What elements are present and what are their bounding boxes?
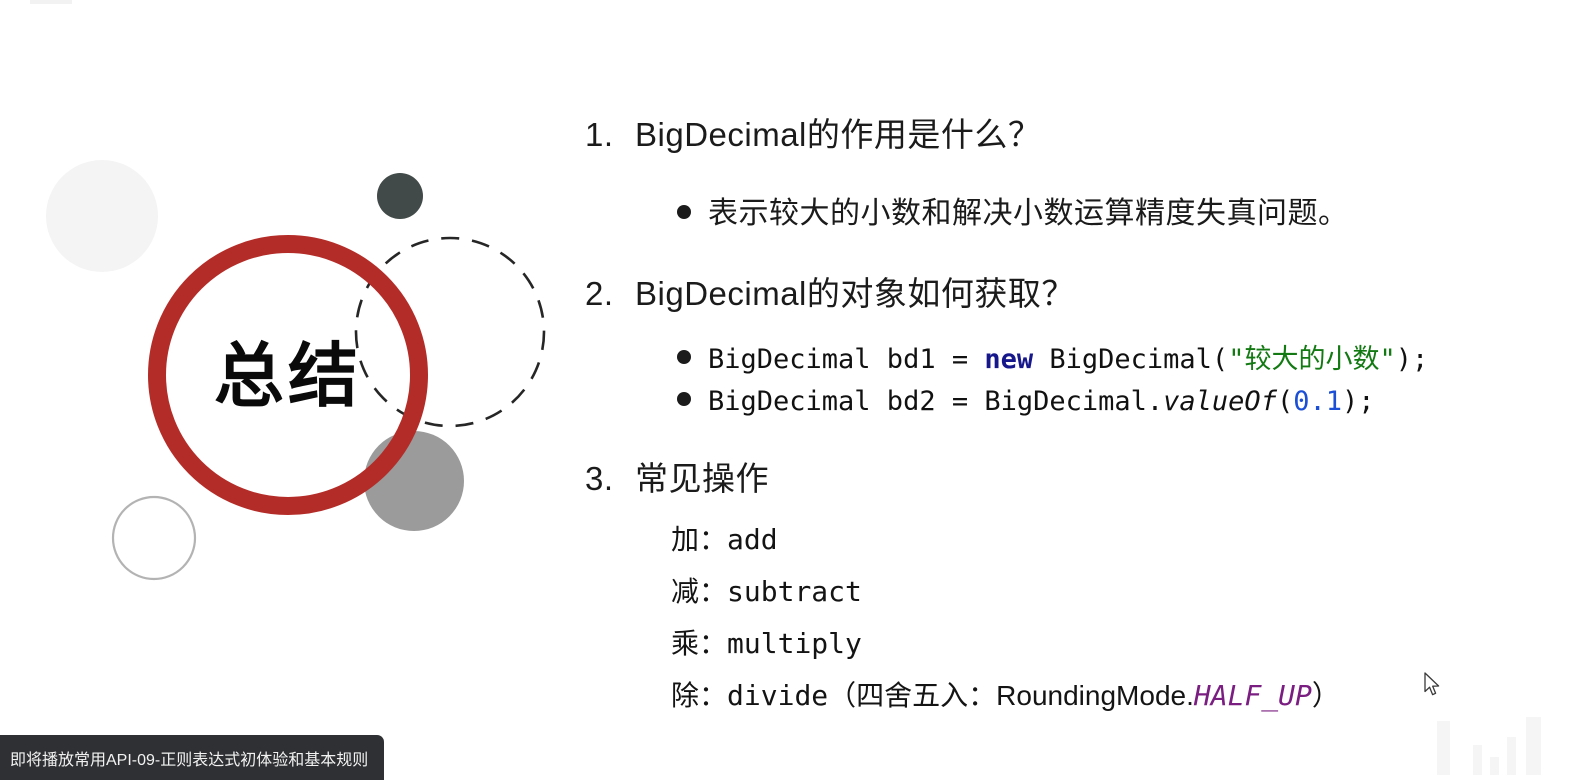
code-1-part-1: BigDecimal bd1 =: [708, 344, 984, 375]
code-2-part-2: (: [1277, 386, 1293, 417]
decorative-circles-graphic: 总结: [0, 0, 600, 640]
code-2-part-1: BigDecimal bd2 = BigDecimal.: [708, 386, 1163, 417]
question-3: 3. 常见操作: [585, 452, 1545, 500]
question-2: 2. BigDecimal的对象如何获取？: [585, 267, 1545, 315]
question-2-number: 2.: [585, 275, 635, 313]
code-2-part-3: );: [1342, 386, 1375, 417]
code-1-part-2: BigDecimal(: [1033, 344, 1228, 375]
slide-body: 1. BigDecimal的作用是什么？ 表示较大的小数和解决小数运算精度失真问…: [585, 108, 1545, 714]
operation-divide-method: divide: [727, 679, 828, 712]
code-line-2: BigDecimal bd2 = BigDecimal.valueOf(0.1)…: [708, 386, 1375, 417]
bullet-dot-icon: [677, 205, 691, 219]
operations-list: 加：add 减：subtract 乘：multiply 除：divide（四舍五…: [671, 518, 1545, 714]
operation-divide-tail: ）: [1312, 680, 1340, 711]
operation-add-method: add: [727, 523, 778, 556]
playback-toast: 即将播放常用API-09-正则表达式初体验和基本规则: [0, 735, 384, 780]
operation-add-label: 加：: [671, 524, 727, 555]
question-2-title: BigDecimal的对象如何获取？: [635, 267, 1075, 315]
code-line-1: BigDecimal bd1 = new BigDecimal("较大的小数")…: [708, 337, 1428, 376]
code-2-method: valueOf: [1163, 386, 1277, 417]
thin-outline-circle: [113, 497, 195, 579]
operation-subtract: 减：subtract: [671, 570, 1545, 610]
question-1-title: BigDecimal的作用是什么？: [635, 108, 1041, 156]
mouse-cursor-icon: [1424, 672, 1442, 698]
code-1-string: "较大的小数": [1228, 344, 1396, 375]
question-3-number: 3.: [585, 460, 635, 498]
operation-multiply-label: 乘：: [671, 628, 727, 659]
question-1-number: 1.: [585, 116, 635, 154]
operation-multiply-method: multiply: [727, 627, 862, 660]
answer-1-text: 表示较大的小数和解决小数运算精度失真问题。: [708, 188, 1349, 232]
code-line-2-row: BigDecimal bd2 = BigDecimal.valueOf(0.1)…: [677, 386, 1545, 417]
code-1-keyword: new: [984, 344, 1033, 375]
bullet-dot-icon: [677, 392, 691, 406]
operation-divide: 除：divide（四舍五入：RoundingMode.HALF_UP）: [671, 674, 1545, 714]
light-gray-circle: [46, 160, 158, 272]
code-2-number: 0.1: [1293, 386, 1342, 417]
question-1: 1. BigDecimal的作用是什么？: [585, 108, 1545, 156]
question-3-title: 常见操作: [635, 452, 769, 500]
operation-subtract-label: 减：: [671, 576, 727, 607]
answer-1-row: 表示较大的小数和解决小数运算精度失真问题。: [677, 188, 1545, 232]
operation-divide-constant: HALF_UP: [1194, 679, 1312, 712]
operation-subtract-method: subtract: [727, 575, 862, 608]
code-1-part-3: );: [1396, 344, 1429, 375]
presentation-slide: 总结 1. BigDecimal的作用是什么？ 表示较大的小数和解决小数运算精度…: [0, 0, 1581, 783]
operation-divide-label: 除：: [671, 680, 727, 711]
playback-toast-text: 即将播放常用API-09-正则表达式初体验和基本规则: [10, 746, 368, 770]
operation-add: 加：add: [671, 518, 1545, 558]
bullet-dot-icon: [677, 350, 691, 364]
dark-charcoal-circle: [377, 173, 423, 219]
watermark-logo: [1433, 717, 1553, 775]
code-line-1-row: BigDecimal bd1 = new BigDecimal("较大的小数")…: [677, 337, 1545, 376]
operation-divide-suffix: （四舍五入：RoundingMode.: [828, 680, 1194, 711]
operation-multiply: 乘：multiply: [671, 622, 1545, 662]
summary-badge-label: 总结: [148, 333, 428, 419]
